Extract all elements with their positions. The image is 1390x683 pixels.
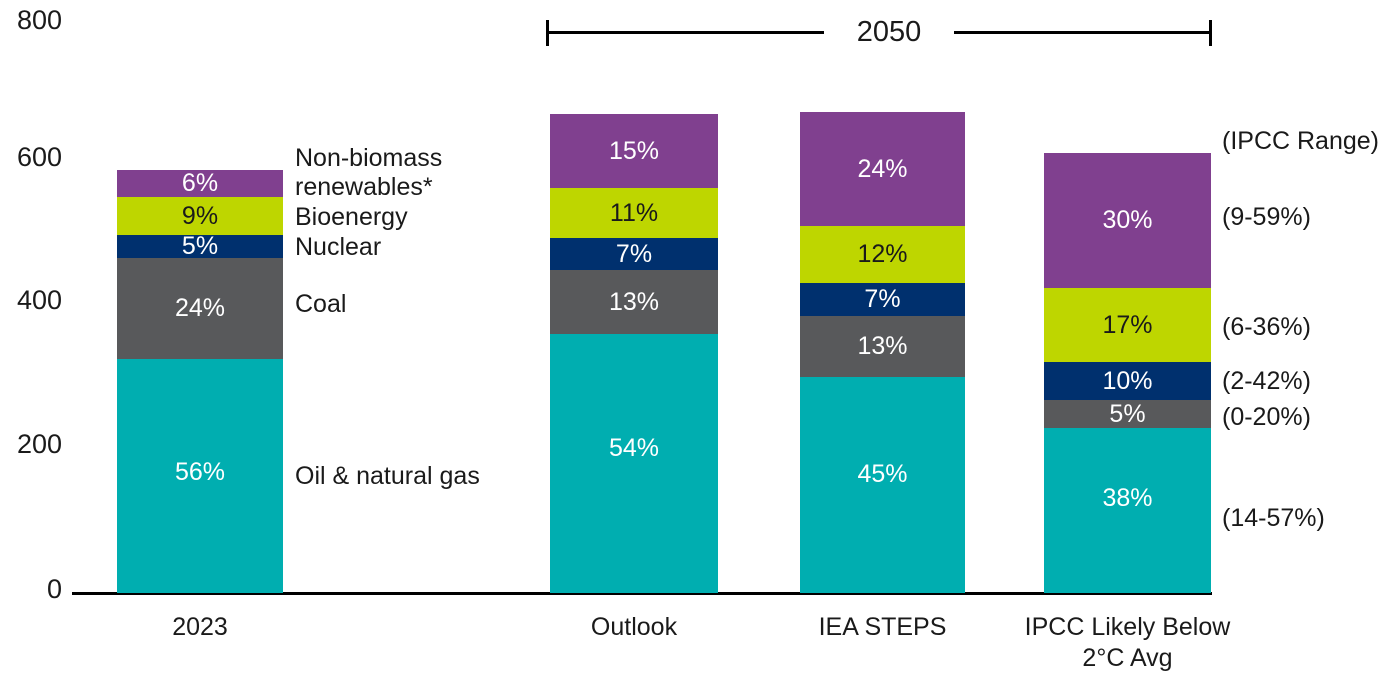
segment-value-label: 13%	[857, 334, 907, 359]
segment-bioenergy: 9%	[117, 197, 283, 235]
range-bioenergy: (6-36%)	[1222, 314, 1311, 341]
segment-renewables: 30%	[1044, 153, 1211, 288]
segment-value-label: 7%	[864, 287, 900, 312]
segment-coal: 5%	[1044, 400, 1211, 428]
segment-value-label: 6%	[182, 171, 218, 196]
segment-value-label: 10%	[1102, 369, 1152, 394]
segment-oil-gas: 54%	[550, 334, 718, 593]
segment-value-label: 12%	[857, 242, 907, 267]
segment-coal: 13%	[550, 270, 718, 334]
y-tick-600: 600	[0, 143, 62, 171]
segment-value-label: 45%	[857, 462, 907, 487]
segment-value-label: 38%	[1102, 486, 1152, 511]
segment-value-label: 13%	[609, 290, 659, 315]
segment-nuclear: 10%	[1044, 362, 1211, 400]
x-label-ipcc-likely-below-2c: IPCC Likely Below 2°C Avg	[1000, 612, 1255, 674]
segment-value-label: 9%	[182, 204, 218, 229]
segment-value-label: 11%	[610, 201, 658, 226]
segment-value-label: 15%	[609, 139, 659, 164]
segment-coal: 13%	[800, 316, 965, 377]
bar-2023: 6% 9% 5% 24% 56%	[117, 170, 283, 593]
y-tick-200: 200	[0, 430, 62, 458]
x-label-outlook: Outlook	[550, 612, 718, 643]
segment-value-label: 24%	[857, 157, 907, 182]
legend-label-non-biomass-renewables: Non-biomass renewables*	[295, 144, 442, 202]
stacked-bar-chart: 800 600 400 200 0 2050 6% 9% 5% 24% 56% …	[0, 0, 1390, 683]
segment-value-label: 17%	[1102, 313, 1152, 338]
bar-iea-steps: 24% 12% 7% 13% 45%	[800, 112, 965, 593]
segment-value-label: 5%	[182, 234, 218, 259]
segment-value-label: 7%	[616, 242, 652, 267]
range-nuclear: (2-42%)	[1222, 368, 1311, 395]
segment-oil-gas: 38%	[1044, 428, 1211, 593]
x-label-line2: 2°C Avg	[1000, 643, 1255, 674]
segment-value-label: 54%	[609, 436, 659, 461]
segment-value-label: 24%	[175, 296, 225, 321]
legend-label-oil-natural-gas: Oil & natural gas	[295, 462, 480, 491]
x-label-iea-steps: IEA STEPS	[800, 612, 965, 643]
segment-oil-gas: 56%	[117, 359, 283, 593]
range-renewables: (9-59%)	[1222, 204, 1311, 231]
y-tick-400: 400	[0, 286, 62, 314]
segment-bioenergy: 11%	[550, 188, 718, 238]
range-header-ipcc-range: (IPCC Range)	[1222, 128, 1379, 155]
segment-oil-gas: 45%	[800, 377, 965, 593]
range-oil-gas: (14-57%)	[1222, 505, 1325, 532]
group-bracket-label: 2050	[824, 18, 954, 47]
bar-ipcc-likely-below-2c: 30% 17% 10% 5% 38%	[1044, 153, 1211, 593]
group-bracket-cap-right	[1209, 20, 1212, 46]
range-coal: (0-20%)	[1222, 404, 1311, 431]
y-tick-0: 0	[0, 575, 62, 603]
segment-bioenergy: 17%	[1044, 288, 1211, 362]
bar-outlook: 15% 11% 7% 13% 54%	[550, 114, 718, 593]
legend-label-coal: Coal	[295, 290, 346, 319]
segment-value-label: 30%	[1102, 208, 1152, 233]
legend-label-nuclear: Nuclear	[295, 233, 381, 262]
segment-renewables: 15%	[550, 114, 718, 188]
segment-renewables: 6%	[117, 170, 283, 197]
segment-bioenergy: 12%	[800, 226, 965, 283]
segment-value-label: 5%	[1109, 402, 1145, 427]
legend-label-bioenergy: Bioenergy	[295, 203, 408, 232]
segment-nuclear: 7%	[550, 238, 718, 270]
segment-nuclear: 7%	[800, 283, 965, 316]
group-bracket-cap-left	[546, 20, 549, 46]
segment-renewables: 24%	[800, 112, 965, 226]
y-tick-800: 800	[0, 6, 62, 34]
segment-nuclear: 5%	[117, 235, 283, 258]
x-label-line1: IPCC Likely Below	[1000, 612, 1255, 643]
segment-coal: 24%	[117, 258, 283, 359]
segment-value-label: 56%	[175, 460, 225, 485]
x-label-2023: 2023	[117, 612, 283, 643]
